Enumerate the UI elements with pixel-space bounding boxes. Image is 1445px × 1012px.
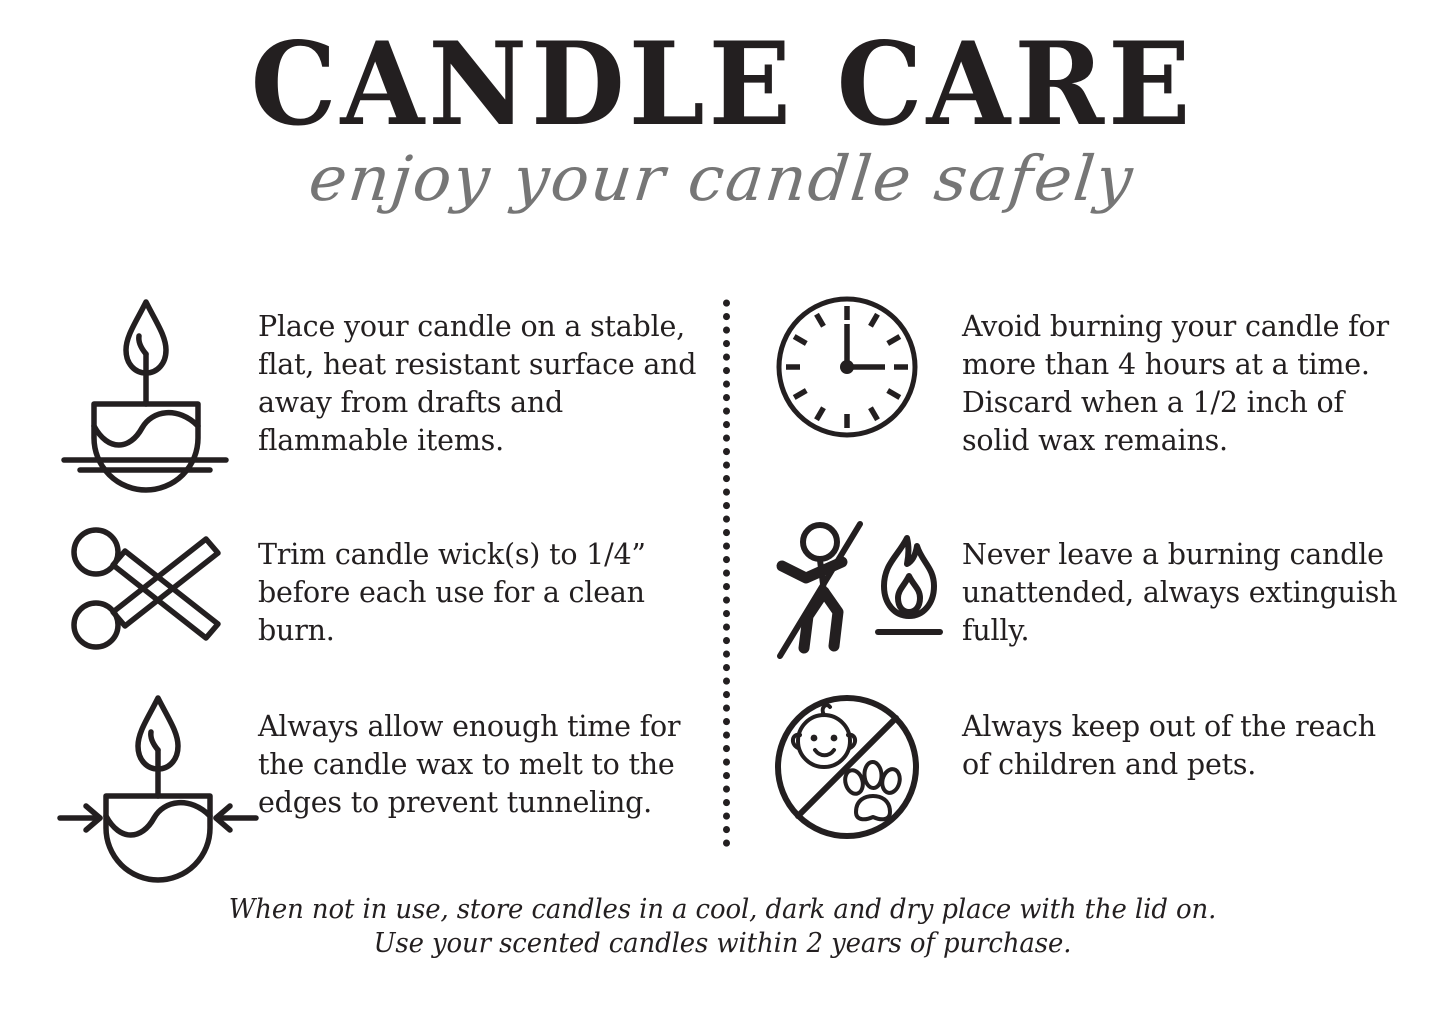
no-children-pets-icon xyxy=(772,692,962,842)
clock-icon xyxy=(772,292,962,442)
tip-item-tunneling: Always allow enough time for the candle … xyxy=(58,692,718,857)
page-title: CANDLE CARE xyxy=(0,0,1445,142)
tip-item-stable-surface: Place your candle on a stable, flat, hea… xyxy=(58,292,718,467)
candle-tunneling-arrows-icon xyxy=(58,692,258,857)
tip-item-unattended: Never leave a burning candle unattended,… xyxy=(772,520,1432,660)
tip-text-tunneling: Always allow enough time for the candle … xyxy=(258,692,703,822)
tip-text-unattended: Never leave a burning candle unattended,… xyxy=(962,520,1402,650)
tips-column-left: Place your candle on a stable, flat, hea… xyxy=(58,292,718,862)
candle-on-surface-icon xyxy=(58,292,258,467)
tips-column-right: Avoid burning your candle for more than … xyxy=(772,292,1432,862)
card-header: CANDLE CARE enjoy your candle safely xyxy=(0,0,1445,210)
page-subtitle: enjoy your candle safely xyxy=(0,134,1445,210)
footer-line-storage: When not in use, store candles in a cool… xyxy=(29,893,1416,927)
vertical-dotted-divider xyxy=(722,300,731,856)
tip-item-children-pets: Always keep out of the reach of children… xyxy=(772,692,1432,842)
tip-item-burn-hours: Avoid burning your candle for more than … xyxy=(772,292,1432,460)
tip-text-stable-surface: Place your candle on a stable, flat, hea… xyxy=(258,292,703,460)
tip-text-children-pets: Always keep out of the reach of children… xyxy=(962,692,1402,784)
person-leaving-fire-icon xyxy=(772,520,962,660)
tip-text-trim-wick: Trim candle wick(s) to 1/4” before each … xyxy=(258,520,703,650)
scissors-icon xyxy=(58,520,258,660)
footer-line-shelf-life: Use your scented candles within 2 years … xyxy=(29,927,1416,961)
tip-text-burn-hours: Avoid burning your candle for more than … xyxy=(962,292,1402,460)
tip-item-trim-wick: Trim candle wick(s) to 1/4” before each … xyxy=(58,520,718,660)
card-footer: When not in use, store candles in a cool… xyxy=(0,893,1445,961)
